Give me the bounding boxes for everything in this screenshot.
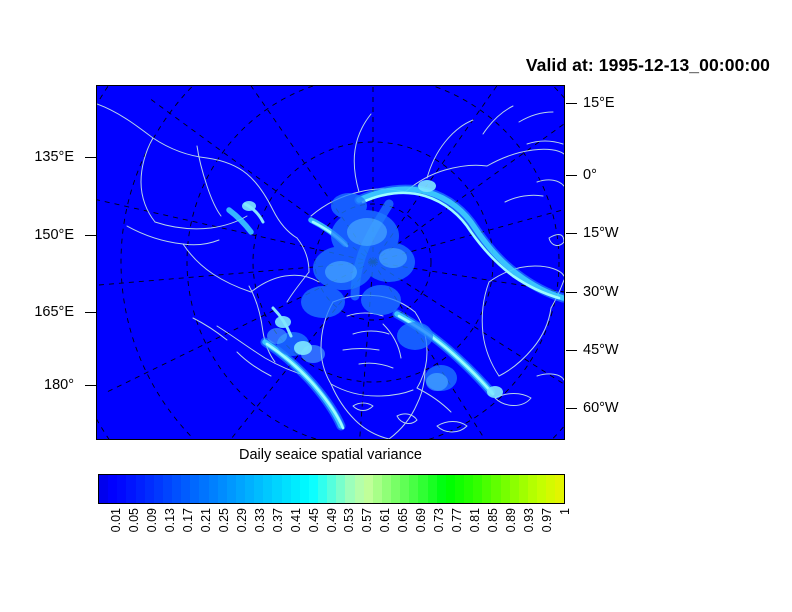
colorbar-tick-label: 0.29 xyxy=(236,508,249,532)
axis-label-left: 150°E xyxy=(34,228,74,243)
colorbar-tick-label: 0.97 xyxy=(541,508,554,532)
axis-tick-left xyxy=(85,385,96,386)
colorbar-band xyxy=(391,475,400,503)
colorbar-band xyxy=(327,475,336,503)
colorbar-band xyxy=(282,475,291,503)
axis-tick-right xyxy=(566,103,577,104)
colorbar-band xyxy=(382,475,391,503)
colorbar-band xyxy=(473,475,482,503)
colorbar-tick-label: 0.89 xyxy=(505,508,518,532)
axis-tick-right xyxy=(566,233,577,234)
colorbar-tick-label: 0.25 xyxy=(218,508,231,532)
colorbar-tick-label: 0.65 xyxy=(397,508,410,532)
colorbar-band xyxy=(428,475,437,503)
colorbar-band xyxy=(345,475,354,503)
colorbar-band xyxy=(300,475,309,503)
colorbar-band xyxy=(528,475,537,503)
axis-tick-left xyxy=(85,312,96,313)
colorbar-tick-label: 0.53 xyxy=(343,508,356,532)
colorbar-gradient xyxy=(98,474,565,504)
colorbar-band xyxy=(546,475,555,503)
plot-caption: Daily seaice spatial variance xyxy=(96,447,565,463)
axis-label-left: 135°E xyxy=(34,150,74,165)
colorbar-band xyxy=(145,475,154,503)
colorbar-band xyxy=(154,475,163,503)
colorbar-band xyxy=(336,475,345,503)
colorbar-tick-label: 0.57 xyxy=(361,508,374,532)
arctic-map xyxy=(97,86,564,439)
axis-tick-right xyxy=(566,350,577,351)
colorbar-tick-label: 0.01 xyxy=(110,508,123,532)
colorbar-tick-label: 1 xyxy=(559,508,572,515)
colorbar-tick-label: 0.61 xyxy=(379,508,392,532)
colorbar-band xyxy=(117,475,126,503)
axis-label-right: 15°E xyxy=(583,96,615,111)
map-plot-area[interactable] xyxy=(96,85,565,440)
colorbar-tick-label: 0.85 xyxy=(487,508,500,532)
colorbar-tick-label: 0.73 xyxy=(433,508,446,532)
colorbar-tick-label: 0.05 xyxy=(128,508,141,532)
colorbar-band xyxy=(126,475,135,503)
colorbar-tick-label: 0.49 xyxy=(326,508,339,532)
colorbar-band xyxy=(355,475,364,503)
axis-label-right: 60°W xyxy=(583,401,619,416)
axis-tick-right xyxy=(566,292,577,293)
colorbar-band xyxy=(318,475,327,503)
colorbar-tick-labels: 0.010.050.090.130.170.210.250.290.330.37… xyxy=(98,508,565,568)
figure-root: Valid at: 1995-12-13_00:00:00 xyxy=(0,0,792,612)
colorbar-band xyxy=(245,475,254,503)
colorbar-tick-label: 0.17 xyxy=(182,508,195,532)
axis-label-right: 30°W xyxy=(583,285,619,300)
colorbar-band xyxy=(537,475,546,503)
axis-tick-right xyxy=(566,408,577,409)
colorbar-band xyxy=(291,475,300,503)
colorbar-band xyxy=(181,475,190,503)
colorbar-band xyxy=(555,475,564,503)
colorbar-band xyxy=(199,475,208,503)
axis-label-left: 180° xyxy=(44,378,74,393)
colorbar-band xyxy=(501,475,510,503)
colorbar-tick-label: 0.69 xyxy=(415,508,428,532)
colorbar-tick-label: 0.33 xyxy=(254,508,267,532)
axis-label-left: 165°E xyxy=(34,305,74,320)
colorbar-band xyxy=(409,475,418,503)
colorbar-band xyxy=(364,475,373,503)
colorbar-band xyxy=(373,475,382,503)
axis-label-right: 45°W xyxy=(583,343,619,358)
colorbar-tick-label: 0.41 xyxy=(290,508,303,532)
colorbar-band xyxy=(418,475,427,503)
colorbar-band xyxy=(190,475,199,503)
colorbar-band xyxy=(99,475,108,503)
colorbar-tick-label: 0.09 xyxy=(146,508,159,532)
colorbar-band xyxy=(400,475,409,503)
colorbar-band xyxy=(218,475,227,503)
colorbar-tick-label: 0.93 xyxy=(523,508,536,532)
colorbar-band xyxy=(163,475,172,503)
axis-tick-left xyxy=(85,157,96,158)
axis-label-right: 0° xyxy=(583,168,597,183)
colorbar-band xyxy=(263,475,272,503)
colorbar-band xyxy=(510,475,519,503)
page-title: Valid at: 1995-12-13_00:00:00 xyxy=(0,55,770,76)
colorbar-band xyxy=(437,475,446,503)
colorbar-tick-label: 0.77 xyxy=(451,508,464,532)
colorbar-tick-label: 0.45 xyxy=(308,508,321,532)
colorbar-band xyxy=(455,475,464,503)
colorbar-band xyxy=(482,475,491,503)
axis-tick-right xyxy=(566,175,577,176)
colorbar-band xyxy=(491,475,500,503)
colorbar-tick-label: 0.37 xyxy=(272,508,285,532)
colorbar-band xyxy=(446,475,455,503)
colorbar-band xyxy=(227,475,236,503)
colorbar-band xyxy=(519,475,528,503)
colorbar-band xyxy=(136,475,145,503)
colorbar-band xyxy=(172,475,181,503)
colorbar[interactable] xyxy=(98,474,565,504)
colorbar-tick-label: 0.81 xyxy=(469,508,482,532)
colorbar-tick-label: 0.13 xyxy=(164,508,177,532)
colorbar-tick-label: 0.21 xyxy=(200,508,213,532)
colorbar-band xyxy=(272,475,281,503)
axis-tick-left xyxy=(85,235,96,236)
colorbar-band xyxy=(209,475,218,503)
colorbar-band xyxy=(108,475,117,503)
colorbar-band xyxy=(236,475,245,503)
colorbar-band xyxy=(309,475,318,503)
axis-label-right: 15°W xyxy=(583,226,619,241)
colorbar-band xyxy=(464,475,473,503)
colorbar-band xyxy=(254,475,263,503)
